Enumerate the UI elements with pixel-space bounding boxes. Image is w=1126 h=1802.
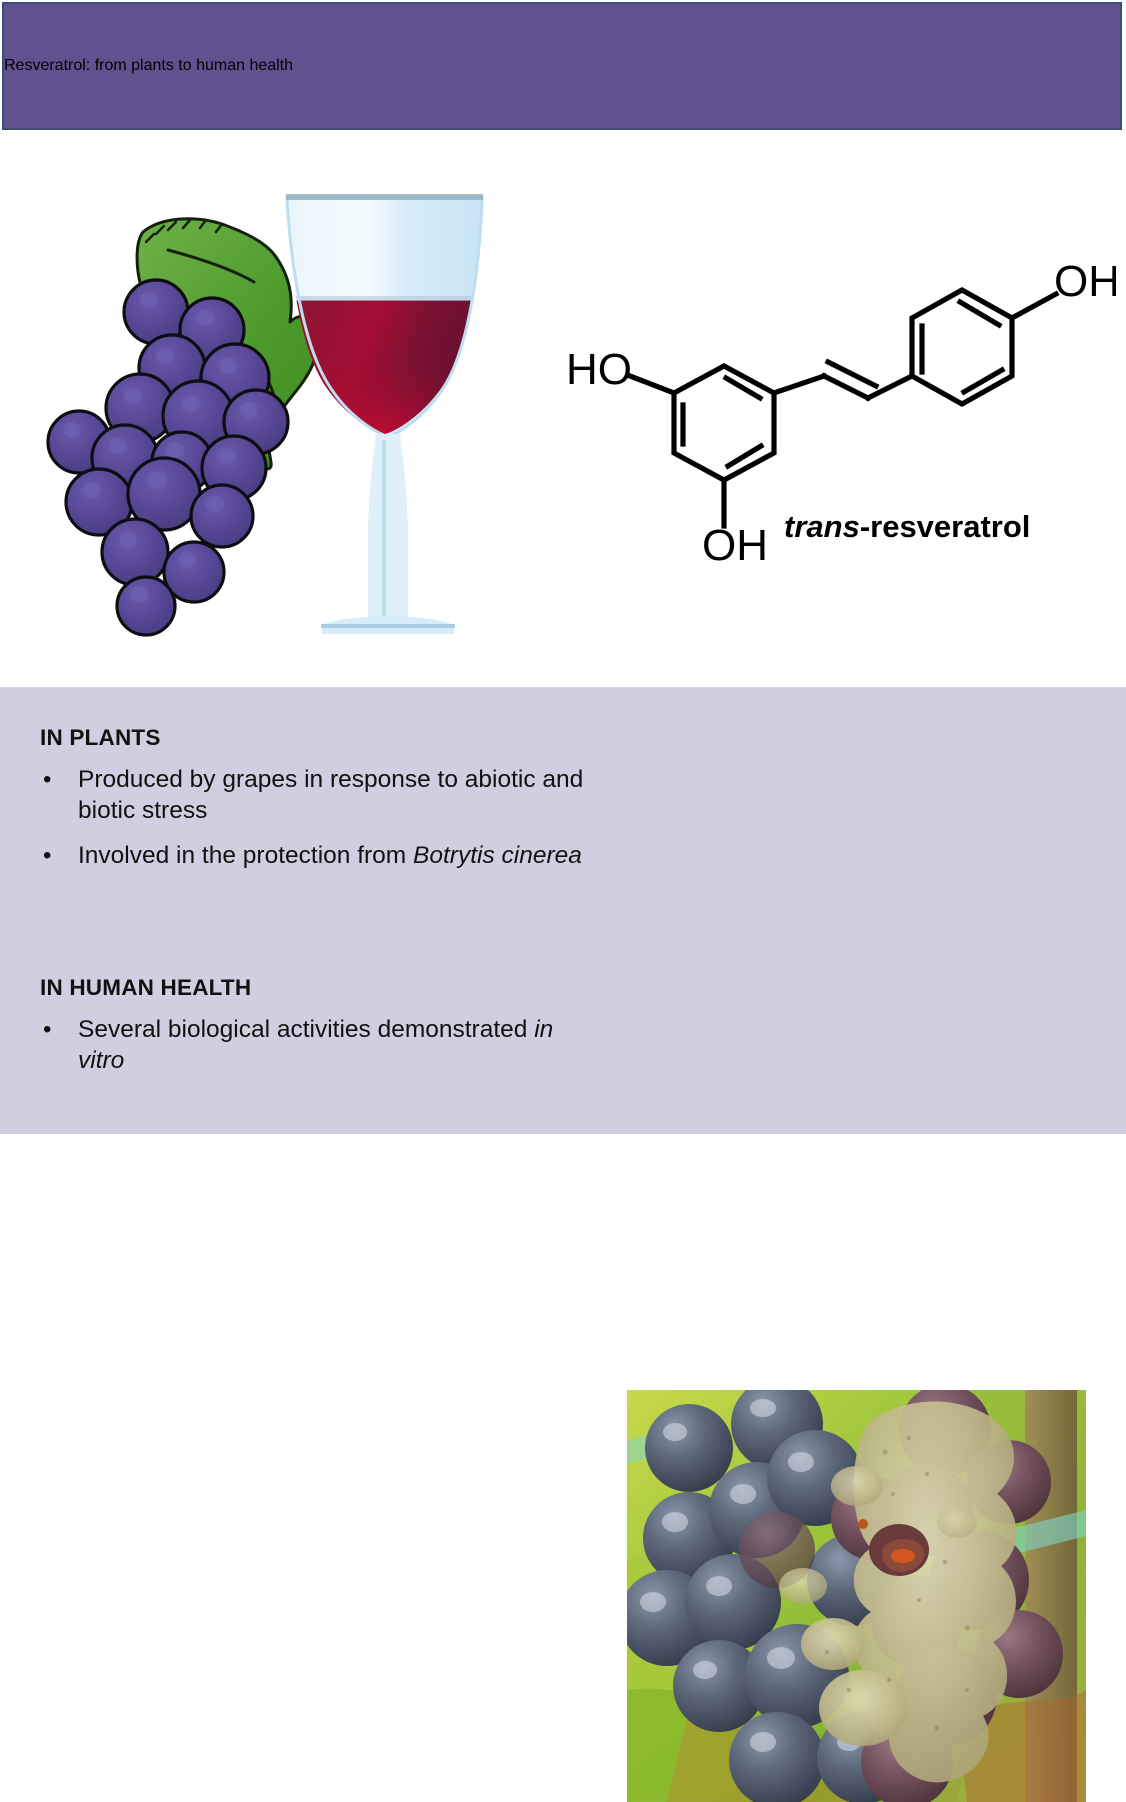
bullet-text-italic: Botrytis cinerea (413, 842, 582, 869)
hydroxyl-label-right: OH (1054, 257, 1116, 306)
bullet-icon: • (43, 841, 51, 871)
section-in-human-health: IN HUMAN HEALTH • Several biological act… (40, 975, 595, 1077)
bullet-list-in-human-health: • Several biological activities demonstr… (40, 1015, 595, 1077)
page-title: Resveratrol: from plants to human health (4, 57, 293, 75)
trans-resveratrol-structure: HO OH OH trans-resveratrol (556, 248, 1116, 568)
wine-glass (277, 194, 497, 634)
botrytis-infected-grapes-photo (627, 1390, 1086, 1802)
structure-caption-suffix: -resveratrol (860, 509, 1031, 544)
structure-caption: trans-resveratrol (784, 509, 1030, 544)
bullet-text: Involved in the protection from (78, 842, 413, 869)
info-panel: IN PLANTS • Produced by grapes in respon… (0, 687, 1126, 1134)
structure-caption-prefix: trans (784, 509, 860, 544)
grapes-and-wine-glass-illustration (22, 172, 522, 672)
bullet-text: Produced by grapes in response to abioti… (78, 766, 583, 824)
section-heading-in-plants: IN PLANTS (40, 725, 595, 751)
bullet-icon: • (43, 1015, 51, 1045)
list-item: • Involved in the protection from Botryt… (40, 841, 595, 872)
section-in-plants: IN PLANTS • Produced by grapes in respon… (40, 725, 595, 872)
bullet-list-in-plants: • Produced by grapes in response to abio… (40, 765, 595, 872)
section-heading-in-human-health: IN HUMAN HEALTH (40, 975, 595, 1001)
list-item: • Produced by grapes in response to abio… (40, 765, 595, 827)
hydroxyl-label-bottom: OH (702, 521, 768, 568)
bullet-icon: • (43, 765, 51, 795)
bond-lines (630, 290, 1056, 526)
list-item: • Several biological activities demonstr… (40, 1015, 595, 1077)
bullet-text: Several biological activities demonstrat… (78, 1016, 534, 1043)
title-banner: Resveratrol: from plants to human health (2, 2, 1122, 130)
hydroxyl-label-left: HO (566, 345, 632, 394)
